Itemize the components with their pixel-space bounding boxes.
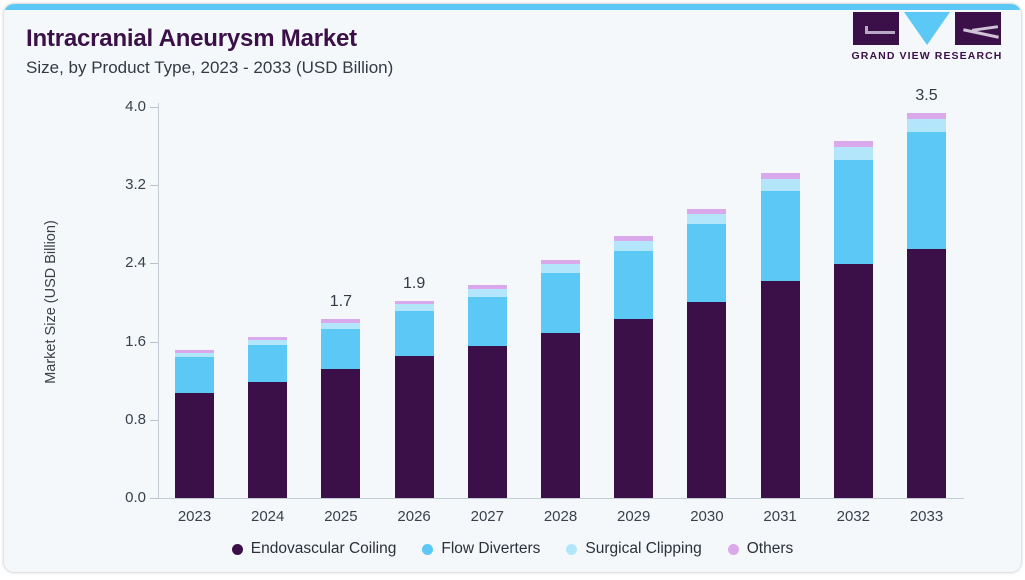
- bar-segment-others[interactable]: [687, 209, 726, 214]
- y-axis-tick-label: 0.8: [100, 411, 146, 428]
- bar-segment-flow-diverters[interactable]: [687, 224, 726, 301]
- bar-stack[interactable]: [468, 285, 507, 498]
- bar-segment-others[interactable]: [834, 141, 873, 147]
- bar-value-label: 1.7: [330, 293, 352, 311]
- bar-segment-flow-diverters[interactable]: [541, 273, 580, 333]
- chart-card: Intracranial Aneurysm Market Size, by Pr…: [4, 4, 1021, 572]
- bar-segment-surgical-clipping[interactable]: [761, 179, 800, 191]
- bar-segment-surgical-clipping[interactable]: [175, 353, 214, 357]
- bar-segment-flow-diverters[interactable]: [468, 297, 507, 346]
- legend-label: Others: [747, 540, 794, 558]
- bar-value-label: 3.5: [915, 87, 937, 105]
- bar-segment-flow-diverters[interactable]: [248, 345, 287, 382]
- bar-stack[interactable]: 1.7: [321, 319, 360, 498]
- legend-item[interactable]: Endovascular Coiling: [232, 540, 397, 558]
- y-axis-tick-label: 2.4: [100, 254, 146, 271]
- bar-segment-endovascular-coiling[interactable]: [395, 356, 434, 498]
- bar-stack[interactable]: [761, 173, 800, 498]
- bar-segment-flow-diverters[interactable]: [395, 311, 434, 356]
- x-axis-tick-label: 2026: [379, 508, 449, 525]
- bar-segment-surgical-clipping[interactable]: [395, 304, 434, 311]
- x-axis-tick-label: 2025: [306, 508, 376, 525]
- legend-color-dot-icon: [232, 544, 243, 555]
- legend-label: Surgical Clipping: [585, 540, 701, 558]
- bar-segment-others[interactable]: [907, 113, 946, 119]
- bar-segment-others[interactable]: [321, 319, 360, 323]
- bar-segment-flow-diverters[interactable]: [175, 357, 214, 393]
- bar-stack[interactable]: [614, 236, 653, 498]
- bar-stack[interactable]: [834, 141, 873, 498]
- bar-segment-surgical-clipping[interactable]: [248, 340, 287, 345]
- bar-segment-others[interactable]: [541, 260, 580, 265]
- y-axis-tick-mark: [150, 342, 158, 343]
- bar-segment-flow-diverters[interactable]: [834, 160, 873, 265]
- x-axis-tick-label: 2027: [452, 508, 522, 525]
- bar-segment-others[interactable]: [614, 236, 653, 241]
- legend-item[interactable]: Others: [728, 540, 794, 558]
- bar-segment-flow-diverters[interactable]: [321, 329, 360, 369]
- bar-segment-others[interactable]: [761, 173, 800, 179]
- x-axis-line: [158, 498, 964, 499]
- bar-segment-endovascular-coiling[interactable]: [175, 393, 214, 498]
- bar-segment-surgical-clipping[interactable]: [321, 323, 360, 329]
- bar-segment-others[interactable]: [468, 285, 507, 289]
- bar-segment-endovascular-coiling[interactable]: [541, 333, 580, 498]
- bar-stack[interactable]: [175, 350, 214, 498]
- bar-segment-endovascular-coiling[interactable]: [687, 302, 726, 498]
- bar-segment-surgical-clipping[interactable]: [907, 119, 946, 133]
- bar-segment-surgical-clipping[interactable]: [834, 147, 873, 160]
- legend-item[interactable]: Surgical Clipping: [566, 540, 701, 558]
- bar-segment-flow-diverters[interactable]: [907, 132, 946, 248]
- bar-segment-endovascular-coiling[interactable]: [321, 369, 360, 498]
- bar-stack[interactable]: 3.5: [907, 113, 946, 498]
- x-axis-tick-label: 2023: [160, 508, 230, 525]
- bar-segment-endovascular-coiling[interactable]: [761, 281, 800, 498]
- bar-segment-endovascular-coiling[interactable]: [248, 382, 287, 498]
- bar-segment-others[interactable]: [248, 337, 287, 340]
- bar-segment-others[interactable]: [395, 301, 434, 305]
- y-axis-tick-mark: [150, 107, 158, 108]
- legend-color-dot-icon: [422, 544, 433, 555]
- bar-segment-surgical-clipping[interactable]: [541, 264, 580, 273]
- y-axis-tick-label: 0.0: [100, 489, 146, 506]
- y-axis-tick-label: 4.0: [100, 98, 146, 115]
- chart-legend: Endovascular CoilingFlow DivertersSurgic…: [4, 540, 1021, 558]
- y-axis-tick-label: 1.6: [100, 333, 146, 350]
- bar-segment-surgical-clipping[interactable]: [468, 289, 507, 297]
- bar-stack[interactable]: [248, 337, 287, 498]
- x-axis-tick-label: 2029: [599, 508, 669, 525]
- bar-stack[interactable]: [541, 260, 580, 499]
- bar-segment-endovascular-coiling[interactable]: [614, 319, 653, 498]
- y-axis-title: Market Size (USD Billion): [43, 162, 59, 442]
- y-axis-tick-label: 3.2: [100, 176, 146, 193]
- bar-stack[interactable]: 1.9: [395, 301, 434, 498]
- x-axis-tick-label: 2024: [233, 508, 303, 525]
- bar-stack[interactable]: [687, 209, 726, 498]
- y-axis-tick-mark: [150, 185, 158, 186]
- x-axis-tick-label: 2028: [526, 508, 596, 525]
- bar-segment-endovascular-coiling[interactable]: [834, 264, 873, 498]
- bar-segment-surgical-clipping[interactable]: [687, 214, 726, 225]
- y-axis-tick-mark: [150, 420, 158, 421]
- legend-label: Endovascular Coiling: [251, 540, 397, 558]
- bar-segment-endovascular-coiling[interactable]: [468, 346, 507, 498]
- x-axis-tick-label: 2033: [892, 508, 962, 525]
- legend-label: Flow Diverters: [441, 540, 540, 558]
- bar-segment-flow-diverters[interactable]: [761, 191, 800, 281]
- bar-segment-others[interactable]: [175, 350, 214, 353]
- legend-color-dot-icon: [566, 544, 577, 555]
- plot-area: Market Size (USD Billion) 0.00.81.62.43.…: [4, 4, 1021, 572]
- bar-value-label: 1.9: [403, 275, 425, 293]
- legend-item[interactable]: Flow Diverters: [422, 540, 540, 558]
- legend-color-dot-icon: [728, 544, 739, 555]
- y-axis-line: [158, 103, 159, 499]
- y-axis-tick-mark: [150, 498, 158, 499]
- bar-segment-endovascular-coiling[interactable]: [907, 249, 946, 498]
- x-axis-tick-label: 2030: [672, 508, 742, 525]
- y-axis-tick-mark: [150, 263, 158, 264]
- bar-segment-surgical-clipping[interactable]: [614, 241, 653, 251]
- bar-segment-flow-diverters[interactable]: [614, 251, 653, 319]
- x-axis-tick-label: 2032: [818, 508, 888, 525]
- x-axis-tick-label: 2031: [745, 508, 815, 525]
